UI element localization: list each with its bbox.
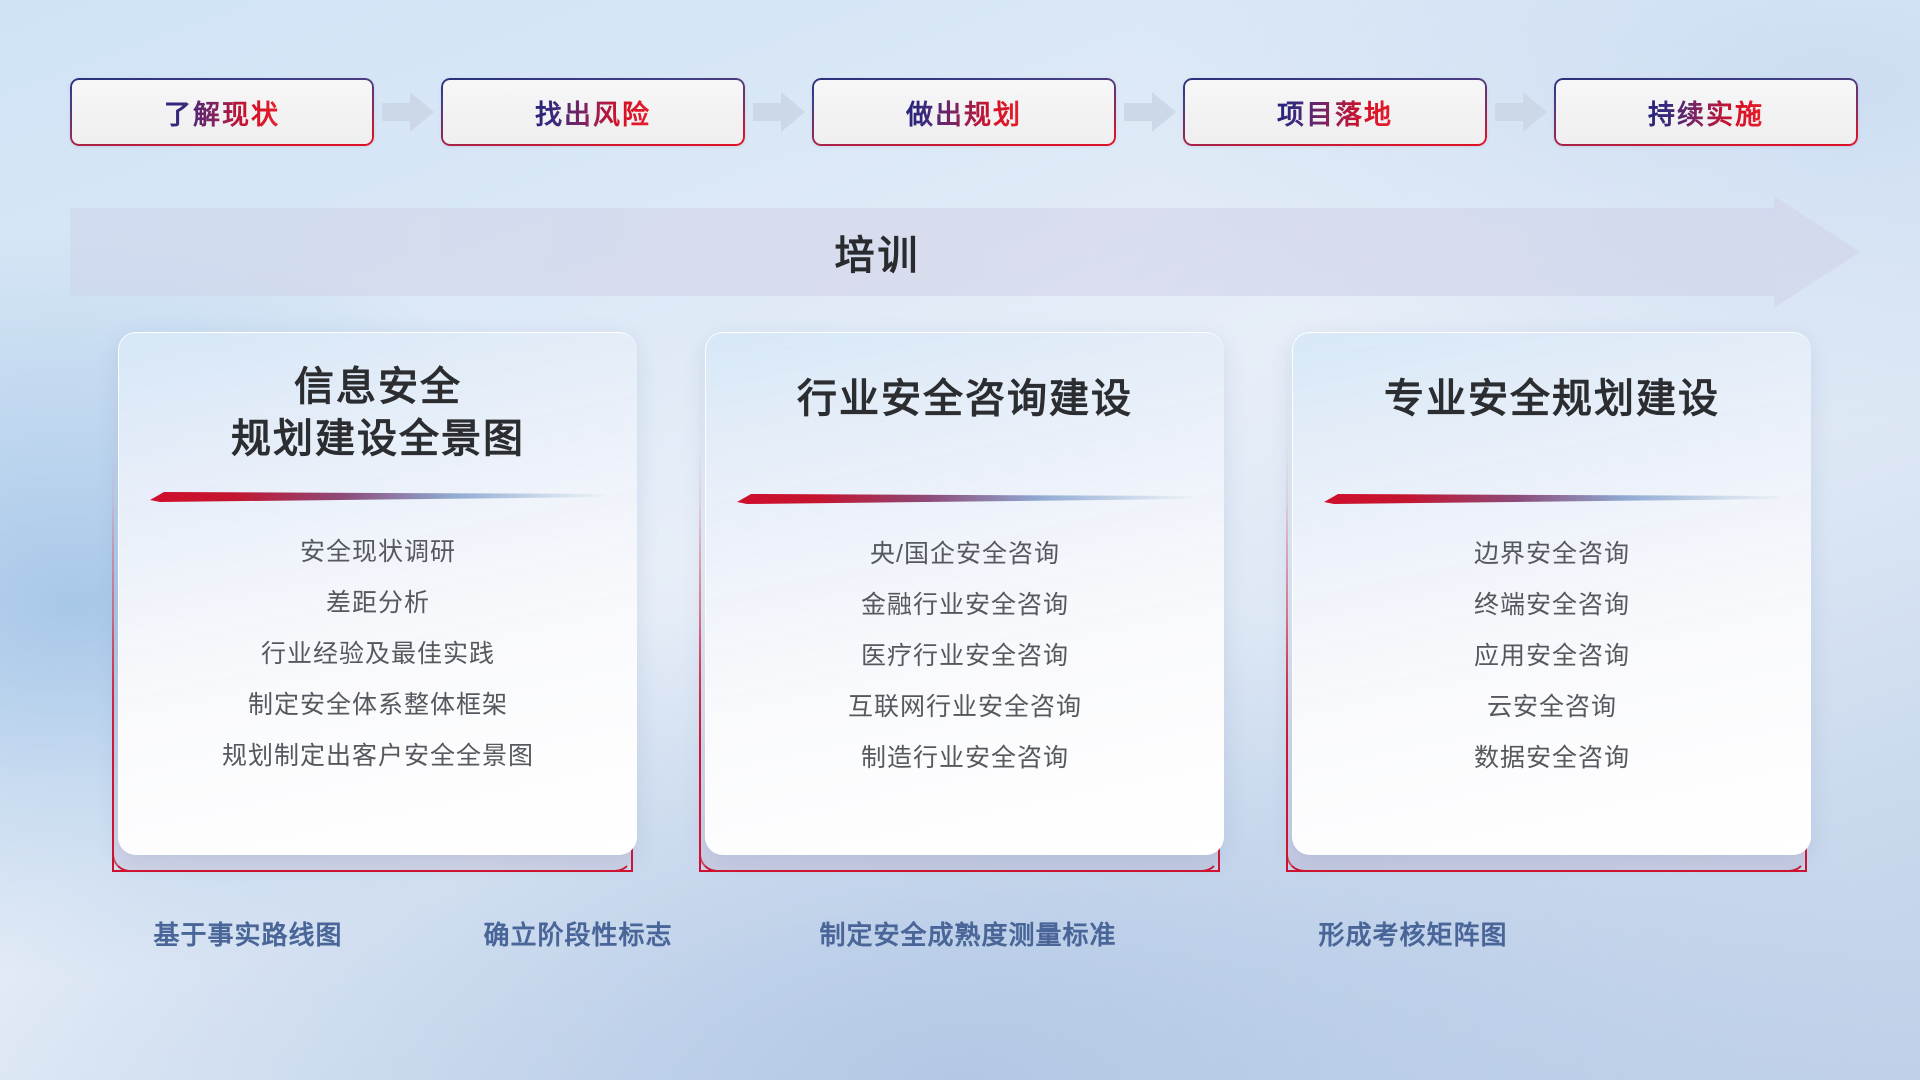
list-item: 差距分析	[326, 578, 430, 629]
step-box-5[interactable]: 持续实施	[1554, 78, 1858, 146]
list-item: 边界安全咨询	[1474, 529, 1630, 580]
card-2-title-line-1: 行业安全咨询建设	[797, 373, 1133, 425]
card-1-title: 信息安全 规划建设全景图	[213, 361, 543, 465]
step-label-3: 做出规划	[906, 93, 1022, 132]
step-arrow-icon-4	[1487, 89, 1554, 135]
list-item: 安全现状调研	[300, 527, 456, 578]
list-item: 应用安全咨询	[1474, 631, 1630, 682]
step-box-1[interactable]: 了解现状	[70, 78, 374, 146]
card-3-title: 专业安全规划建设	[1366, 373, 1738, 425]
list-item: 医疗行业安全咨询	[861, 631, 1069, 682]
card-3-list: 边界安全咨询 终端安全咨询 应用安全咨询 云安全咨询 数据安全咨询	[1293, 529, 1811, 784]
card-3[interactable]: 专业安全规划建设	[1286, 332, 1811, 872]
list-item: 规划制定出客户安全全景图	[222, 731, 534, 782]
list-item: 金融行业安全咨询	[861, 580, 1069, 631]
list-item: 互联网行业安全咨询	[848, 682, 1082, 733]
list-item: 制造行业安全咨询	[861, 733, 1069, 784]
card-row: 信息安全 规划建设全景图	[112, 332, 1812, 872]
process-step-row: 了解现状 找出风险 做出规划 项目落地 持续实施	[70, 78, 1860, 146]
training-banner: 培训	[70, 196, 1860, 308]
card-1-title-line-2: 规划建设全景图	[231, 413, 525, 465]
card-3-body: 专业安全规划建设	[1292, 332, 1811, 855]
card-1-divider-icon	[150, 491, 606, 503]
bottom-caption-1: 基于事实路线图	[153, 915, 342, 952]
list-item: 央/国企安全咨询	[870, 529, 1060, 580]
card-1[interactable]: 信息安全 规划建设全景图	[112, 332, 637, 872]
training-banner-arrowhead-icon	[1774, 196, 1860, 308]
card-2-body: 行业安全咨询建设	[705, 332, 1224, 855]
step-box-3[interactable]: 做出规划	[812, 78, 1116, 146]
list-item: 云安全咨询	[1487, 682, 1617, 733]
bottom-caption-3: 制定安全成熟度测量标准	[819, 915, 1116, 952]
step-arrow-icon-2	[745, 89, 812, 135]
card-3-title-line-1: 专业安全规划建设	[1384, 373, 1720, 425]
list-item: 终端安全咨询	[1474, 580, 1630, 631]
card-1-list: 安全现状调研 差距分析 行业经验及最佳实践 制定安全体系整体框架 规划制定出客户…	[119, 527, 637, 782]
step-label-1: 了解现状	[164, 93, 280, 132]
step-label-5: 持续实施	[1648, 93, 1764, 132]
step-box-2[interactable]: 找出风险	[441, 78, 745, 146]
bottom-caption-2: 确立阶段性标志	[483, 915, 672, 952]
bottom-caption-4: 形成考核矩阵图	[1318, 915, 1507, 952]
step-box-4[interactable]: 项目落地	[1183, 78, 1487, 146]
step-arrow-icon-3	[1116, 89, 1183, 135]
card-2-list: 央/国企安全咨询 金融行业安全咨询 医疗行业安全咨询 互联网行业安全咨询 制造行…	[706, 529, 1224, 784]
training-banner-label: 培训	[70, 208, 1775, 296]
card-1-title-line-1: 信息安全	[231, 361, 525, 413]
card-2-divider-icon	[737, 493, 1193, 505]
card-3-divider-icon	[1324, 493, 1780, 505]
list-item: 制定安全体系整体框架	[248, 680, 508, 731]
step-arrow-icon-1	[374, 89, 441, 135]
card-2-title: 行业安全咨询建设	[779, 373, 1151, 425]
list-item: 数据安全咨询	[1474, 733, 1630, 784]
step-label-4: 项目落地	[1277, 93, 1393, 132]
card-2[interactable]: 行业安全咨询建设	[699, 332, 1224, 872]
card-1-body: 信息安全 规划建设全景图	[118, 332, 637, 855]
list-item: 行业经验及最佳实践	[261, 629, 495, 680]
step-label-2: 找出风险	[535, 93, 651, 132]
bottom-caption-row: 基于事实路线图 确立阶段性标志 制定安全成熟度测量标准 形成考核矩阵图	[0, 915, 1920, 963]
